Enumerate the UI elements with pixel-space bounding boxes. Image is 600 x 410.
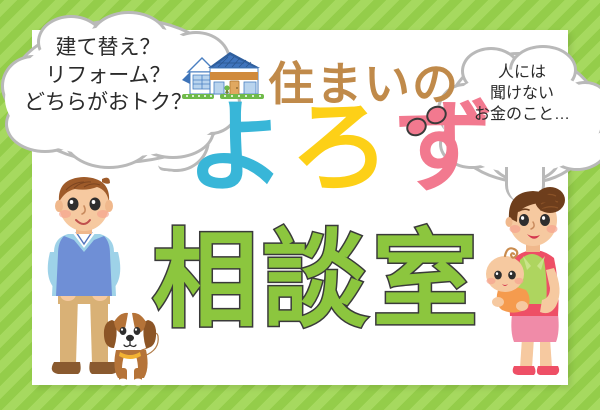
bubble-left-line-2: リフォーム？ [8, 62, 208, 90]
question-bubble-right-text: 人には 聞けない お金のこと… [452, 62, 592, 125]
headline-soudanshitsu: 相談室 [152, 228, 482, 334]
bubble-right-line-2: 聞けない [452, 83, 592, 104]
beagle-dog-illustration [100, 300, 162, 386]
bubble-right-line-1: 人には [452, 62, 592, 83]
banner-root: 建て替え？ リフォーム？ どちらがおトク？ 人には 聞けない お金のこと… [0, 0, 600, 410]
bubble-left-line-3: どちらがおトク？ [8, 89, 208, 117]
woman-with-baby-illustration [478, 186, 584, 386]
bubble-left-line-1: 建て替え？ [8, 34, 208, 62]
question-bubble-left-text: 建て替え？ リフォーム？ どちらがおトク？ [8, 34, 208, 117]
bubble-right-line-3: お金のこと… [452, 104, 592, 125]
headline-yorozu-char-2: ろ [290, 98, 394, 198]
